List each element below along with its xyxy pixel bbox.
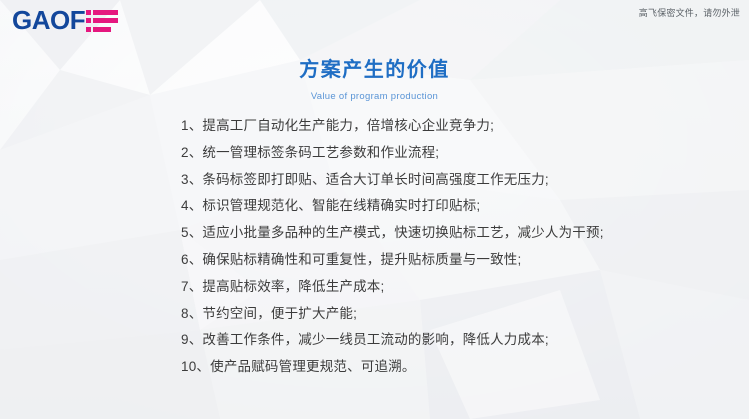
list-item: 4、标识管理规范化、智能在线精确实时打印贴标; <box>181 193 721 220</box>
list-item: 5、适应小批量多品种的生产模式，快速切换贴标工艺，减少人为干预; <box>181 220 721 247</box>
title-block: 方案产生的价值 Value of program production <box>0 58 749 102</box>
logo-square-3 <box>86 27 91 32</box>
list-item: 6、确保贴标精确性和可重复性，提升贴标质量与一致性; <box>181 247 721 274</box>
list-item: 9、改善工作条件，减少一线员工流动的影响，降低人力成本; <box>181 327 721 354</box>
logo-bar-3 <box>93 27 111 32</box>
logo-bar-row-3 <box>86 27 118 32</box>
value-list: 1、提高工厂自动化生产能力，倍增核心企业竞争力; 2、统一管理标签条码工艺参数和… <box>181 113 721 381</box>
slide-canvas: GAOF 高飞保密文件，请勿外泄 方案产生的价值 Value of progr <box>0 0 749 419</box>
logo-bar-row-2 <box>86 18 118 23</box>
logo-bar-2 <box>93 18 118 23</box>
list-item: 1、提高工厂自动化生产能力，倍增核心企业竞争力; <box>181 113 721 140</box>
logo-square-2 <box>86 18 91 23</box>
page-title: 方案产生的价值 <box>0 58 749 82</box>
logo-bar-row-1 <box>86 10 118 15</box>
list-item: 10、使产品赋码管理更规范、可追溯。 <box>181 354 721 381</box>
list-item: 7、提高贴标效率，降低生产成本; <box>181 274 721 301</box>
logo-square-1 <box>86 10 91 15</box>
list-item: 3、条码标签即打即贴、适合大订单长时间高强度工作无压力; <box>181 167 721 194</box>
brand-logo: GAOF <box>12 6 118 34</box>
page-subtitle: Value of program production <box>0 91 749 102</box>
list-item: 2、统一管理标签条码工艺参数和作业流程; <box>181 140 721 167</box>
confidential-notice: 高飞保密文件，请勿外泄 <box>639 6 740 19</box>
list-item: 8、节约空间，便于扩大产能; <box>181 301 721 328</box>
logo-wordmark: GAOF <box>12 7 85 33</box>
logo-bar-1 <box>93 10 118 15</box>
slide-header: GAOF 高飞保密文件，请勿外泄 <box>0 0 749 40</box>
logo-mark-icon <box>86 9 118 32</box>
